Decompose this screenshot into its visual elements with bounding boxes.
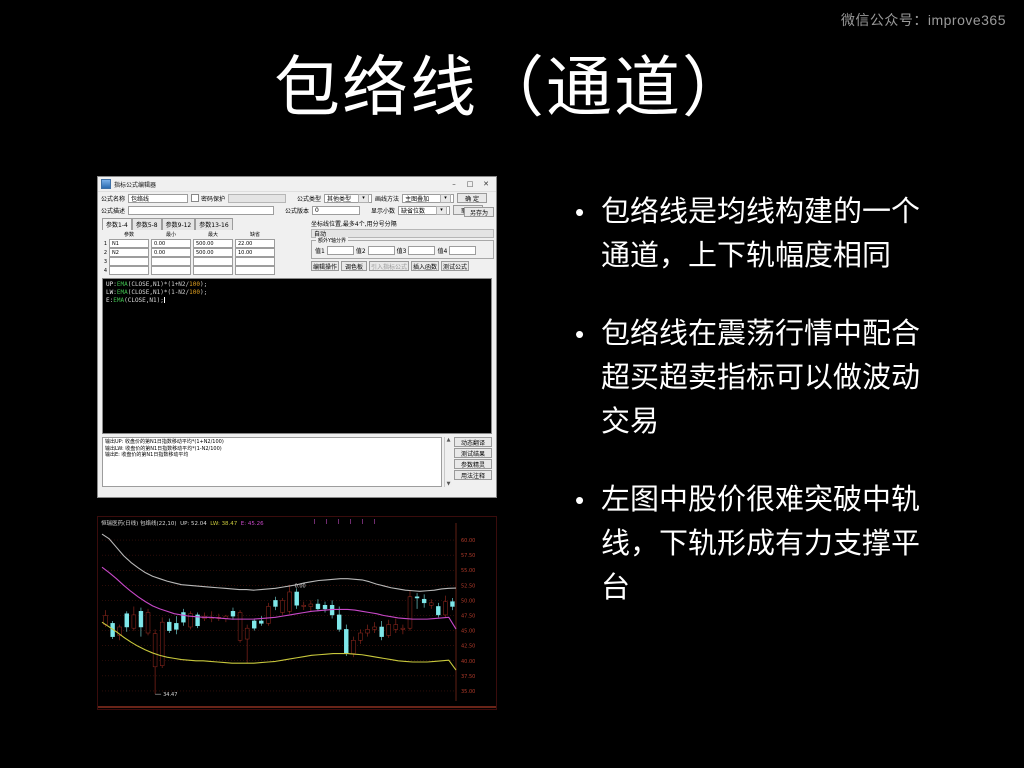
window-titlebar: 指标公式编辑器 – □ ✕ (98, 177, 496, 192)
test-result-button[interactable]: 测试结果 (454, 448, 492, 458)
svg-text:42.50: 42.50 (461, 644, 475, 650)
list-item: • 左图中股价很难突破中轨线，下轨形成有力支撑平台 (575, 478, 1015, 610)
formula-type-value: 其他类型 (327, 194, 351, 203)
axis-settings-panel: 另存为 坐标线位置,最多4个,用分号分隔 自动 额外Y轴分界 值1 值2 值3 … (311, 207, 494, 271)
svg-text:55.00: 55.00 (461, 568, 475, 574)
svg-text:37.50: 37.50 (461, 674, 475, 680)
svg-text:60.00: 60.00 (461, 538, 475, 544)
translation-output: 输出UP: 收盘价的第N1日指数移动平均*(1+N2/100) 输出LW: 收盘… (102, 437, 442, 487)
svg-text:45.00: 45.00 (461, 629, 475, 635)
legend-e-value: 45.26 (248, 521, 264, 527)
scroll-up-icon[interactable]: ▲ (447, 437, 451, 443)
row-index: 3 (102, 259, 107, 265)
svg-text:50.00: 50.00 (461, 598, 475, 604)
legend-lw: LW: 38.47 (209, 521, 238, 527)
password-protect-label: 密码保护 (201, 194, 225, 203)
formula-type-label: 公式类型 (297, 194, 321, 203)
password-input[interactable] (228, 194, 286, 203)
param-max-input[interactable]: 500.00 (193, 248, 233, 257)
dynamic-translate-button[interactable]: 动态翻译 (454, 437, 492, 447)
extra-y-axis-group: 额外Y轴分界 值1 值2 值3 值4 (311, 240, 494, 259)
text-caret (164, 297, 165, 303)
col-header-param: 参数 (109, 230, 149, 239)
scroll-down-icon[interactable]: ▼ (447, 481, 451, 487)
window-title: 指标公式编辑器 (114, 180, 446, 189)
minimize-icon[interactable]: – (446, 178, 462, 191)
import-formula-button[interactable]: 引入指标公式 (369, 261, 409, 271)
bullet-marker-icon: • (575, 190, 601, 278)
param-max-input[interactable] (193, 266, 233, 275)
param-name-input[interactable]: N1 (109, 239, 149, 248)
bullet-list: • 包络线是均线构建的一个通道，上下轨幅度相同 • 包络线在震荡行情中配合超买超… (575, 190, 1015, 644)
page-title: 包络线（通道） (0, 54, 1024, 120)
param-default-input[interactable] (235, 266, 275, 275)
param-default-input[interactable]: 22.00 (235, 239, 275, 248)
list-item: • 包络线在震荡行情中配合超买超卖指标可以做波动交易 (575, 312, 1015, 444)
draw-method-select[interactable]: 主图叠加 ▾ (402, 194, 454, 203)
maximize-icon[interactable]: □ (462, 178, 478, 191)
row-index: 4 (102, 268, 107, 274)
param-min-input[interactable]: 0.00 (151, 248, 191, 257)
value3-input[interactable] (408, 246, 435, 255)
legend-e: E: 45.26 (239, 521, 264, 527)
code-line: UP:EMA(CLOSE,N1)*(1+N2/100); (106, 281, 488, 289)
col-header-max: 最大 (193, 230, 233, 239)
param-name-input[interactable] (109, 257, 149, 266)
chart-title: 恒瑞医药(日线) 包络线(22,10) (101, 521, 177, 527)
code-number: 100 (189, 289, 200, 296)
close-icon[interactable]: ✕ (478, 178, 494, 191)
palette-button[interactable]: 调色板 (341, 261, 367, 271)
param-min-input[interactable] (151, 266, 191, 275)
test-formula-button[interactable]: 测试公式 (441, 261, 469, 271)
tab-params-13-16[interactable]: 参数13-16 (195, 218, 232, 230)
translation-buttons: 动态翻译 测试结果 参数精灵 用法注释 (454, 437, 492, 487)
formula-name-label: 公式名称 (101, 194, 125, 203)
edit-operations-button[interactable]: 编辑操作 (311, 261, 339, 271)
translation-area: 输出UP: 收盘价的第N1日指数移动平均*(1+N2/100) 输出LW: 收盘… (102, 437, 492, 487)
param-max-input[interactable] (193, 257, 233, 266)
col-header-default: 缺省 (235, 230, 275, 239)
svg-text:40.00: 40.00 (461, 659, 475, 665)
bullet-text: 包络线是均线构建的一个通道，上下轨幅度相同 (601, 190, 931, 278)
legend-up: UP: 52.04 (178, 521, 206, 527)
svg-text:34.47: 34.47 (163, 692, 177, 698)
code-args: CLOSE,N1 (131, 281, 160, 288)
value3-label: 值3 (397, 246, 407, 255)
code-function: EMA (113, 297, 124, 304)
param-max-input[interactable]: 500.00 (193, 239, 233, 248)
bullet-marker-icon: • (575, 312, 601, 444)
code-line: E:EMA(CLOSE,N1); (106, 297, 488, 305)
stock-chart: 恒瑞医药(日线) 包络线(22,10) UP: 52.04 LW: 38.47 … (97, 516, 497, 710)
axis-hint-label: 坐标线位置,最多4个,用分号分隔 (311, 219, 494, 228)
value1-label: 值1 (315, 246, 325, 255)
code-tail: *(1+N2/ (164, 281, 189, 288)
code-args: CLOSE,N1 (131, 289, 160, 296)
formula-type-select[interactable]: 其他类型 ▾ (324, 194, 372, 203)
param-name-input[interactable]: N2 (109, 248, 149, 257)
code-line: LW:EMA(CLOSE,N1)*(1-N2/100); (106, 289, 488, 297)
svg-text:47.50: 47.50 (461, 614, 475, 620)
param-min-input[interactable] (151, 257, 191, 266)
code-function: EMA (117, 289, 128, 296)
code-end: ); (200, 289, 207, 296)
translation-line: 输出E: 收盘价的第N1日指数移动平均 (105, 452, 439, 459)
svg-text:52.50: 52.50 (461, 583, 475, 589)
tab-params-5-8[interactable]: 参数5-8 (132, 218, 162, 230)
code-editor[interactable]: UP:EMA(CLOSE,N1)*(1+N2/100); LW:EMA(CLOS… (102, 278, 492, 434)
value4-label: 值4 (437, 246, 447, 255)
form-row-name: 公式名称 包络线 密码保护 公式类型 其他类型 ▾ 画线方法 主图叠加 ▾ 确 … (98, 192, 496, 204)
bullet-text: 左图中股价很难突破中轨线，下轨形成有力支撑平台 (601, 478, 931, 610)
chart-canvas: 60.0057.5055.0052.5050.0047.5045.0042.50… (98, 517, 497, 710)
value1-input[interactable] (327, 246, 354, 255)
tab-params-1-4[interactable]: 参数1-4 (102, 218, 132, 230)
tab-params-9-12[interactable]: 参数9-12 (162, 218, 196, 230)
password-protect-checkbox[interactable]: 密码保护 (191, 194, 225, 203)
value2-input[interactable] (368, 246, 395, 255)
row-index: 1 (102, 241, 107, 247)
save-as-button[interactable]: 另存为 (464, 207, 494, 217)
usage-notes-button[interactable]: 用法注释 (454, 470, 492, 480)
formula-editor-window: 指标公式编辑器 – □ ✕ 公式名称 包络线 密码保护 公式类型 其他类型 ▾ … (97, 176, 497, 498)
svg-text:57.50: 57.50 (461, 553, 475, 559)
code-end: ); (200, 281, 207, 288)
formula-desc-label: 公式描述 (101, 206, 125, 215)
code-tail: *(1-N2/ (164, 289, 189, 296)
chevron-down-icon[interactable]: ▾ (358, 194, 369, 203)
param-wizard-button[interactable]: 参数精灵 (454, 459, 492, 469)
insert-function-button[interactable]: 插入函数 (411, 261, 439, 271)
formula-desc-input[interactable] (128, 206, 274, 215)
watermark-text: 微信公众号：improve365 (841, 10, 1006, 30)
code-args: CLOSE,N1 (128, 297, 157, 304)
value2-label: 值2 (356, 246, 366, 255)
checkbox-icon[interactable] (191, 194, 199, 202)
svg-text:0.00: 0.00 (295, 584, 306, 590)
translation-scrollbar[interactable]: ▲ ▼ (444, 437, 452, 487)
chevron-down-icon[interactable]: ▾ (440, 194, 451, 203)
param-name-input[interactable] (109, 266, 149, 275)
svg-text:35.00: 35.00 (461, 689, 475, 695)
formula-name-input[interactable]: 包络线 (128, 194, 188, 203)
bullet-marker-icon: • (575, 478, 601, 610)
list-item: • 包络线是均线构建的一个通道，上下轨幅度相同 (575, 190, 1015, 278)
code-number: 100 (189, 281, 200, 288)
legend-up-value: 52.04 (191, 521, 207, 527)
legend-lw-value: 38.47 (222, 521, 238, 527)
param-min-input[interactable]: 0.00 (151, 239, 191, 248)
draw-method-value: 主图叠加 (405, 194, 429, 203)
ok-button[interactable]: 确 定 (457, 193, 487, 203)
param-default-input[interactable]: 10.00 (235, 248, 275, 257)
value4-input[interactable] (449, 246, 476, 255)
row-index: 2 (102, 250, 107, 256)
draw-method-label: 画线方法 (375, 194, 399, 203)
extra-y-axis-label: 额外Y轴分界 (316, 237, 348, 244)
app-icon (101, 179, 111, 189)
chart-header: 恒瑞医药(日线) 包络线(22,10) UP: 52.04 LW: 38.47 … (101, 519, 264, 527)
col-header-min: 最小 (151, 230, 191, 239)
bullet-text: 包络线在震荡行情中配合超买超卖指标可以做波动交易 (601, 312, 931, 444)
code-function: EMA (117, 281, 128, 288)
formula-version-label: 公式版本 (285, 206, 309, 215)
param-default-input[interactable] (235, 257, 275, 266)
